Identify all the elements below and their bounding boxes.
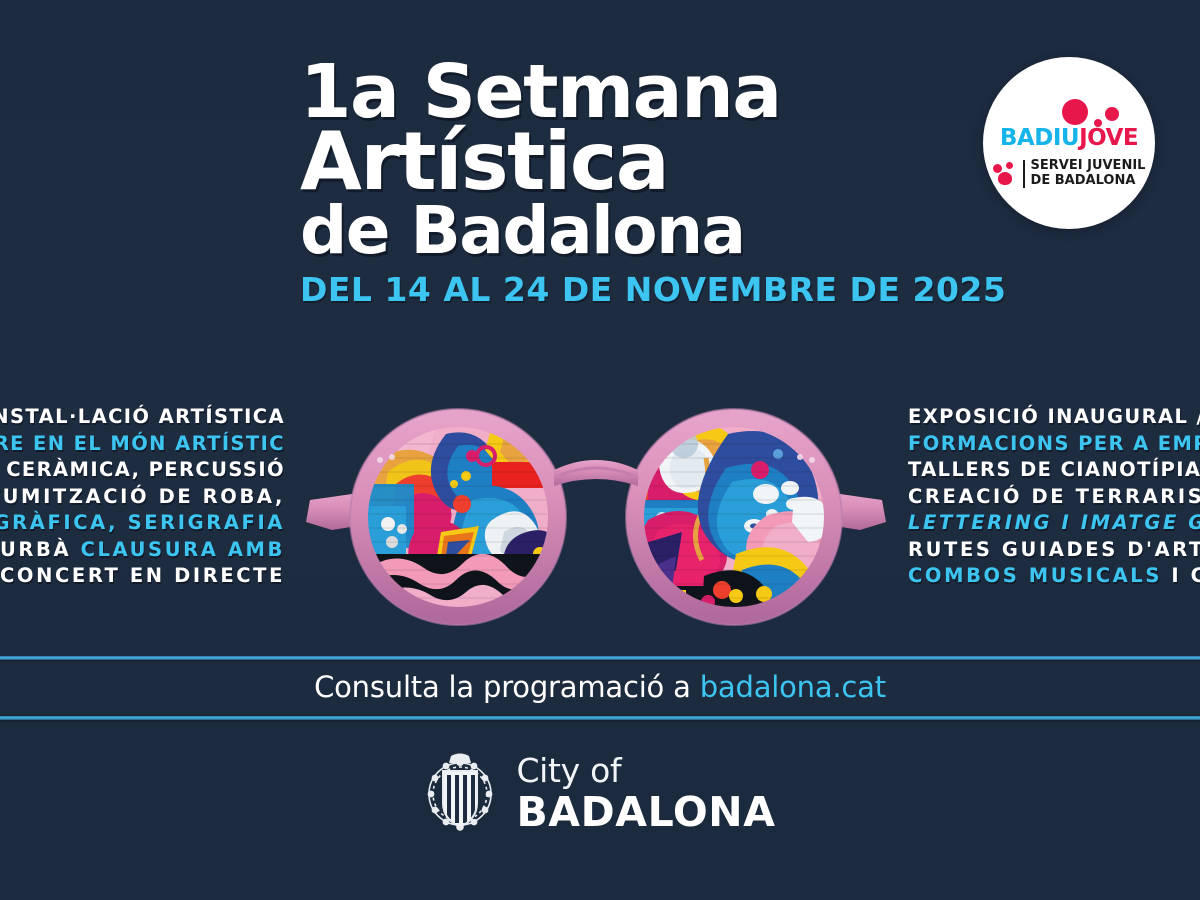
- marquee-right-line-7: COMBOS MUSICALS I CO: [908, 563, 1200, 590]
- city-logo-text: City of BADALONA: [516, 754, 775, 833]
- divider-bottom: [0, 716, 1200, 720]
- poster-canvas: 1a Setmana Artística de Badalona DEL 14 …: [0, 0, 1200, 900]
- badalona-cat-link[interactable]: badalona.cat: [700, 670, 886, 704]
- badge-subtitle: SERVEI JUVENIL DE BADALONA: [1031, 159, 1146, 188]
- badiu-jove-logo: BADIUJOVE SERVEI JUVENIL DE BADALONA: [983, 57, 1155, 229]
- marquee-right: EXPOSICIÓ INAUGURAL / INS FORMACIONS PER…: [908, 404, 1200, 590]
- event-dates: DEL 14 AL 24 DE NOVEMBRE DE 2025: [300, 270, 900, 309]
- marquee-left-line-1: / INSTAL·LACIÓ ARTÍSTICA: [0, 404, 285, 431]
- cta-text: Consulta la programació a: [314, 670, 691, 704]
- city-logo-line-1: City of: [516, 754, 775, 787]
- marquee-right-line-2: FORMACIONS PER A EMPREND: [908, 431, 1200, 458]
- marquee-left-line-5: GRÀFICA, SERIGRAFIA: [0, 510, 285, 537]
- badge-subtitle-row: SERVEI JUVENIL DE BADALONA: [993, 159, 1146, 188]
- graffiti-sunglasses-illustration: [296, 404, 896, 629]
- marquee-left-line-2: RENDRE EN EL MÓN ARTÍSTIC: [0, 431, 285, 458]
- marquee-right-line-6: RUTES GUIADES D'ART UR: [908, 537, 1200, 564]
- cta-band: Consulta la programació a badalona.cat: [0, 660, 1200, 714]
- marquee-right-line-1: EXPOSICIÓ INAUGURAL / INS: [908, 404, 1200, 431]
- marquee-left-line-3: A, CERÀMICA, PERCUSSIÓ: [0, 457, 285, 484]
- paw-icon: [993, 162, 1017, 186]
- city-logo-line-2: BADALONA: [516, 792, 775, 833]
- marquee-right-line-3: TALLERS DE CIANOTÍPIA, CE: [908, 457, 1200, 484]
- marquee-left-line-7: I CONCERT EN DIRECTE: [0, 563, 285, 590]
- badge-subtitle-line-2: DE BADALONA: [1031, 173, 1136, 188]
- title-block: 1a Setmana Artística de Badalona DEL 14 …: [300, 58, 900, 309]
- marquee-left-line-4: CUSTUMITZACIÓ DE ROBA,: [0, 484, 285, 511]
- marquee-left-line-6: RT URBÀ CLAUSURA AMB: [0, 537, 285, 564]
- marquee-right-line-5: LETTERING I IMATGE GRÀ: [908, 510, 1200, 537]
- badge-divider: [1023, 160, 1025, 188]
- badalona-crest-icon: [424, 752, 496, 834]
- marquee-right-line-4: CREACIÓ DE TERRARIS, CUST: [908, 484, 1200, 511]
- city-of-badalona-logo: City of BADALONA: [0, 752, 1200, 834]
- badge-dots-icon: [1004, 97, 1134, 131]
- title-line-3: de Badalona: [300, 200, 900, 261]
- marquee-left: / INSTAL·LACIÓ ARTÍSTICA RENDRE EN EL MÓ…: [0, 404, 285, 590]
- title-line-2: Artística: [300, 125, 900, 199]
- badge-subtitle-line-1: SERVEI JUVENIL: [1031, 158, 1146, 173]
